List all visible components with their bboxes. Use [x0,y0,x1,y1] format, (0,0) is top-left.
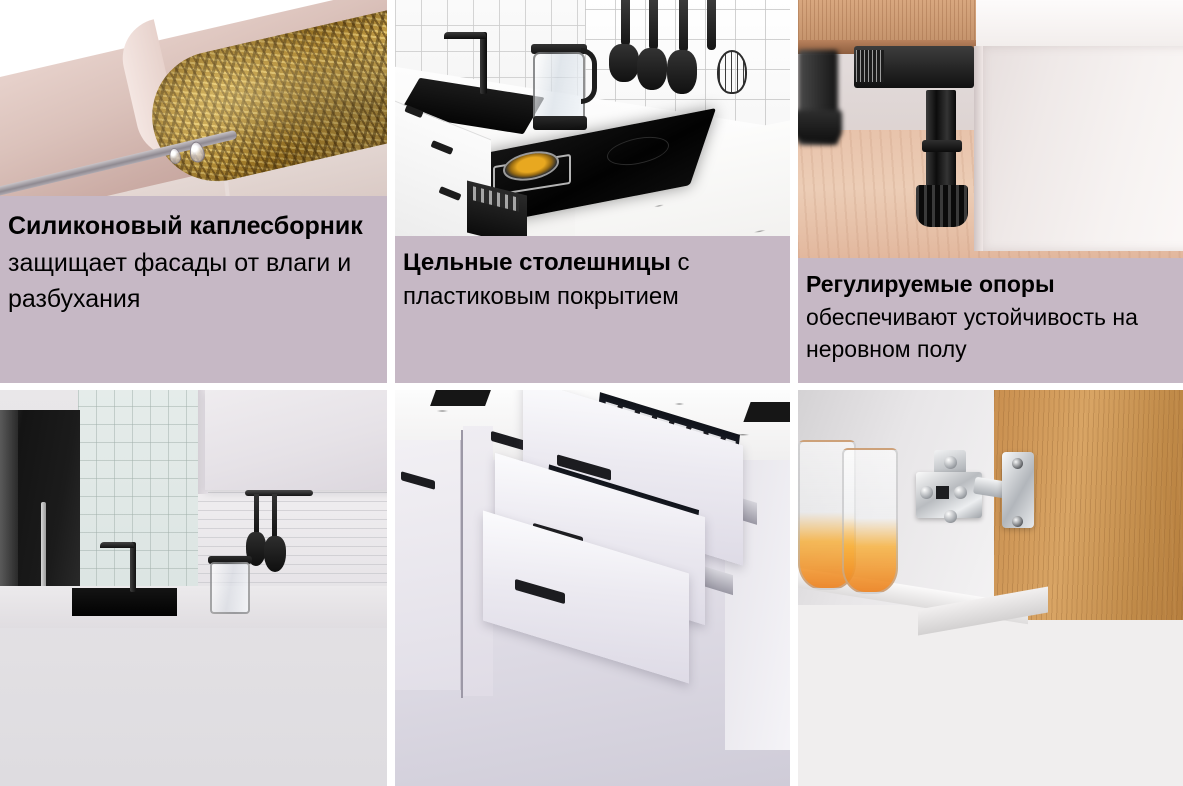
feature-grid: Силиконовый каплесборник защищает фасады… [0,0,1183,786]
feature-title: Регулируемые опоры [806,271,1055,297]
wine-glass-shape [842,448,898,594]
door-seam-shape [461,430,463,698]
utensil-shape [272,494,277,542]
photo-soft-close-hinges [798,390,1183,786]
tile-wall-square-shape [78,390,198,605]
hinge-screw-icon [954,486,967,499]
hinge-screw-icon [1012,516,1023,527]
whisk-icon [717,50,747,94]
hinge-screw-icon [944,510,957,523]
utensil-shape [679,0,688,52]
feature-caption: Регулируемые опоры обеспечивают устойчив… [798,258,1183,383]
hinge-screw-icon [1012,458,1023,469]
feature-description: защищает фасады от влаги и разбухания [8,249,351,314]
worktop-dark-inset [743,402,790,422]
secondary-leg-foot-shape [798,110,842,142]
hinge-adjust-square [936,486,949,499]
sink-shape [72,588,177,616]
hinge-screw-icon [920,486,933,499]
feature-card-adjustable-legs[interactable]: Регулируемые опоры обеспечивают устойчив… [798,0,1183,383]
kettle-handle-shape [581,48,597,104]
plinth-edge-shape [974,46,983,251]
feature-caption: Силиконовый каплесборник защищает фасады… [0,196,387,383]
faucet-shape [480,32,487,94]
plinth-panel-shape [976,46,1183,251]
feature-card-overhang-fronts[interactable]: Фасады со свесом можно использовать без … [0,390,387,786]
feature-description: обеспечивают устойчивость на неровном по… [806,304,1138,363]
utensil-head-shape [609,44,639,82]
feature-card-silicone-drip-guard[interactable]: Силиконовый каплесборник защищает фасады… [0,0,387,383]
utensil-shape [621,0,630,46]
fridge-side-shape [0,410,18,600]
fridge-handle[interactable] [41,502,46,592]
utensil-head-shape [667,50,697,94]
photo-ball-bearing-slides [395,390,790,786]
leg-foot-shape [916,185,968,227]
feature-card-soft-close-hinges[interactable]: Петли со встроенным доводчиком обеспечив… [798,390,1183,786]
faucet-shape [130,542,136,592]
worktop-shape [0,586,387,628]
worktop-dark-inset [430,390,491,406]
upper-cabinet-shape [205,390,387,490]
photo-overhang-fronts [0,390,387,786]
feature-title: Цельные столешницы [403,249,671,276]
utensil-head-shape [264,536,286,572]
utensil-shape [707,0,716,50]
hinge-screw-icon [944,456,957,469]
leg-bracket-ribs [856,50,884,82]
glass-jug-shape [210,562,250,614]
leg-adjust-ring-shape [922,140,962,152]
feature-caption: Цельные столешницы с пластиковым покрыти… [395,236,790,383]
feature-card-solid-countertops[interactable]: Цельные столешницы с пластиковым покрыти… [395,0,790,383]
feature-title: Силиконовый каплесборник [8,212,363,240]
feature-card-ball-bearing-slides[interactable]: Шариковые направляющие полного и плавног… [395,390,790,786]
utensil-head-shape [637,48,667,90]
kettle-shape [533,52,585,122]
utensil-shape [649,0,658,50]
